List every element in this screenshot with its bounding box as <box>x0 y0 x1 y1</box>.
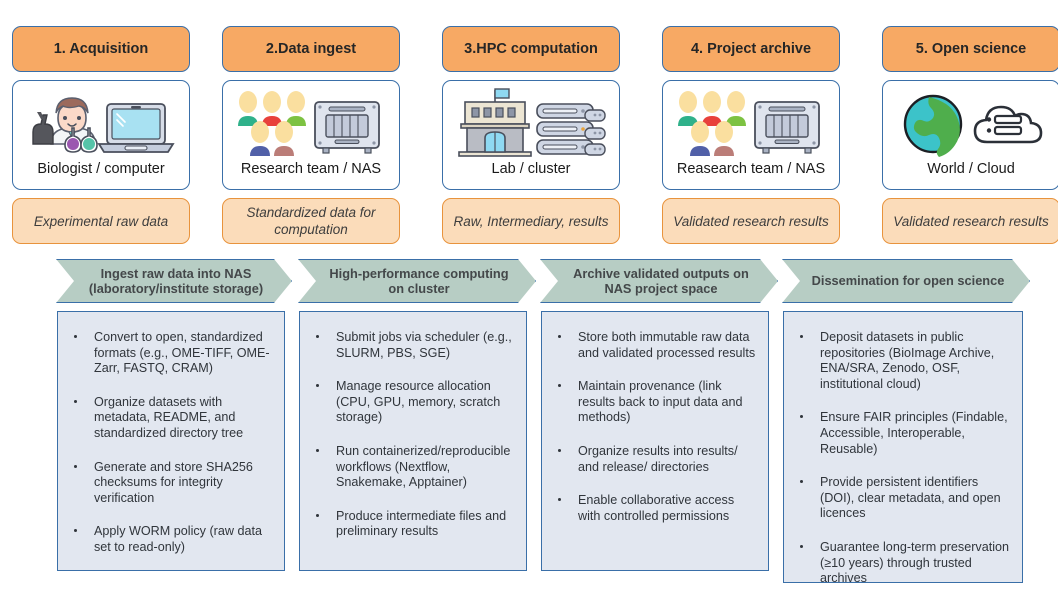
bullet-text: Maintain provenance (link results back t… <box>578 379 743 424</box>
building-server-rack-icon <box>455 87 607 161</box>
bullet-text: Organize datasets with metadata, README,… <box>94 395 243 440</box>
bullet-text: Ensure FAIR principles (Findable, Access… <box>820 410 1008 455</box>
research-team-nas-icon <box>675 87 827 161</box>
list-item: Submit jobs via scheduler (e.g., SLURM, … <box>306 330 516 361</box>
chevron-dissemination[interactable]: Dissemination for open science <box>782 259 1030 303</box>
stage-card-hpc-computation: Lab / cluster <box>442 80 620 190</box>
panel-open-science-tasks: Deposit datasets in public repositories … <box>783 311 1023 583</box>
stage-column-project-archive: 4. Project archive <box>662 26 840 244</box>
bullet-text: Guarantee long-term preservation (≥10 ye… <box>820 540 1009 585</box>
bullet-dot-icon <box>316 449 319 452</box>
research-team-nas-icon <box>235 87 387 161</box>
stage-card-label-data-ingest: Research team / NAS <box>241 161 381 178</box>
stage-column-open-science: 5. Open science World / Cloud Validated … <box>882 26 1058 244</box>
list-item: Apply WORM policy (raw data set to read-… <box>64 524 274 555</box>
list-item: Organize results into results/ and relea… <box>548 444 758 475</box>
list-item: Generate and store SHA256 checksums for … <box>64 460 274 507</box>
bullet-dot-icon <box>316 335 319 338</box>
bullet-dot-icon <box>800 335 803 338</box>
list-item: Deposit datasets in public repositories … <box>790 330 1012 392</box>
bullet-text: Apply WORM policy (raw data set to read-… <box>94 524 262 554</box>
stage-card-label-project-archive: Reasearch team / NAS <box>677 161 825 178</box>
bullet-dot-icon <box>74 529 77 532</box>
bullet-list-hpc: Submit jobs via scheduler (e.g., SLURM, … <box>306 330 516 540</box>
stage-card-open-science: World / Cloud <box>882 80 1058 190</box>
bullet-dot-icon <box>558 498 561 501</box>
panel-ingest-tasks: Convert to open, standardized formats (e… <box>57 311 285 571</box>
list-item: Ensure FAIR principles (Findable, Access… <box>790 410 1012 457</box>
list-item: Provide persistent identifiers (DOI), cl… <box>790 475 1012 522</box>
scientist-laptop-icon <box>25 87 177 161</box>
stage-title-acquisition[interactable]: 1. Acquisition <box>12 26 190 72</box>
list-item: Enable collaborative access with control… <box>548 493 758 524</box>
chevron-ingest[interactable]: Ingest raw data into NAS (laboratory/ins… <box>56 259 292 303</box>
bullet-text: Convert to open, standardized formats (e… <box>94 330 270 375</box>
stage-card-label-acquisition: Biologist / computer <box>37 161 164 178</box>
chevron-hpc[interactable]: High-performance computing on cluster <box>298 259 536 303</box>
stage-note-hpc-computation: Raw, Intermediary, results <box>442 198 620 244</box>
bullet-list-open-science: Deposit datasets in public repositories … <box>790 330 1012 587</box>
stage-note-acquisition: Experimental raw data <box>12 198 190 244</box>
bullet-dot-icon <box>800 545 803 548</box>
bullet-dot-icon <box>800 415 803 418</box>
bullet-text: Produce intermediate files and prelimina… <box>336 509 506 539</box>
stage-card-acquisition: Biologist / computer <box>12 80 190 190</box>
bullet-dot-icon <box>74 400 77 403</box>
bullet-text: Generate and store SHA256 checksums for … <box>94 460 253 505</box>
bullet-list-archive: Store both immutable raw data and valida… <box>548 330 758 524</box>
bullet-dot-icon <box>74 465 77 468</box>
stage-note-project-archive: Validated research results <box>662 198 840 244</box>
bullet-text: Submit jobs via scheduler (e.g., SLURM, … <box>336 330 512 360</box>
list-item: Organize datasets with metadata, README,… <box>64 395 274 442</box>
list-item: Produce intermediate files and prelimina… <box>306 509 516 540</box>
bullet-text: Enable collaborative access with control… <box>578 493 734 523</box>
stage-title-project-archive[interactable]: 4. Project archive <box>662 26 840 72</box>
bullet-dot-icon <box>316 514 319 517</box>
panel-hpc-tasks: Submit jobs via scheduler (e.g., SLURM, … <box>299 311 527 571</box>
bullet-dot-icon <box>558 384 561 387</box>
panel-archive-tasks: Store both immutable raw data and valida… <box>541 311 769 571</box>
bullet-text: Manage resource allocation (CPU, GPU, me… <box>336 379 500 424</box>
bullet-text: Run containerized/reproducible workflows… <box>336 444 510 489</box>
bullet-dot-icon <box>74 335 77 338</box>
stage-card-data-ingest: Research team / NAS <box>222 80 400 190</box>
bullet-list-ingest: Convert to open, standardized formats (e… <box>64 330 274 556</box>
bullet-dot-icon <box>558 449 561 452</box>
bullet-text: Deposit datasets in public repositories … <box>820 330 994 391</box>
stage-title-open-science[interactable]: 5. Open science <box>882 26 1058 72</box>
list-item: Guarantee long-term preservation (≥10 ye… <box>790 540 1012 587</box>
stage-column-acquisition: 1. Acquisition <box>12 26 190 244</box>
stage-column-data-ingest: 2.Data ingest <box>222 26 400 244</box>
globe-cloud-icon <box>895 87 1047 161</box>
list-item: Store both immutable raw data and valida… <box>548 330 758 361</box>
stage-card-label-hpc-computation: Lab / cluster <box>492 161 571 178</box>
list-item: Run containerized/reproducible workflows… <box>306 444 516 491</box>
bullet-dot-icon <box>800 480 803 483</box>
bullet-text: Provide persistent identifiers (DOI), cl… <box>820 475 1001 520</box>
list-item: Convert to open, standardized formats (e… <box>64 330 274 377</box>
bullet-text: Organize results into results/ and relea… <box>578 444 738 474</box>
bullet-dot-icon <box>558 335 561 338</box>
bullet-text: Store both immutable raw data and valida… <box>578 330 755 360</box>
stage-note-open-science: Validated research results <box>882 198 1058 244</box>
stage-title-data-ingest[interactable]: 2.Data ingest <box>222 26 400 72</box>
chevron-archive[interactable]: Archive validated outputs on NAS project… <box>540 259 778 303</box>
stage-note-data-ingest: Standardized data for computation <box>222 198 400 244</box>
stage-card-label-open-science: World / Cloud <box>927 161 1015 178</box>
list-item: Manage resource allocation (CPU, GPU, me… <box>306 379 516 426</box>
stage-title-hpc-computation[interactable]: 3.HPC computation <box>442 26 620 72</box>
bullet-dot-icon <box>316 384 319 387</box>
stage-column-hpc-computation: 3.HPC computation <box>442 26 620 244</box>
stage-card-project-archive: Reasearch team / NAS <box>662 80 840 190</box>
list-item: Maintain provenance (link results back t… <box>548 379 758 426</box>
